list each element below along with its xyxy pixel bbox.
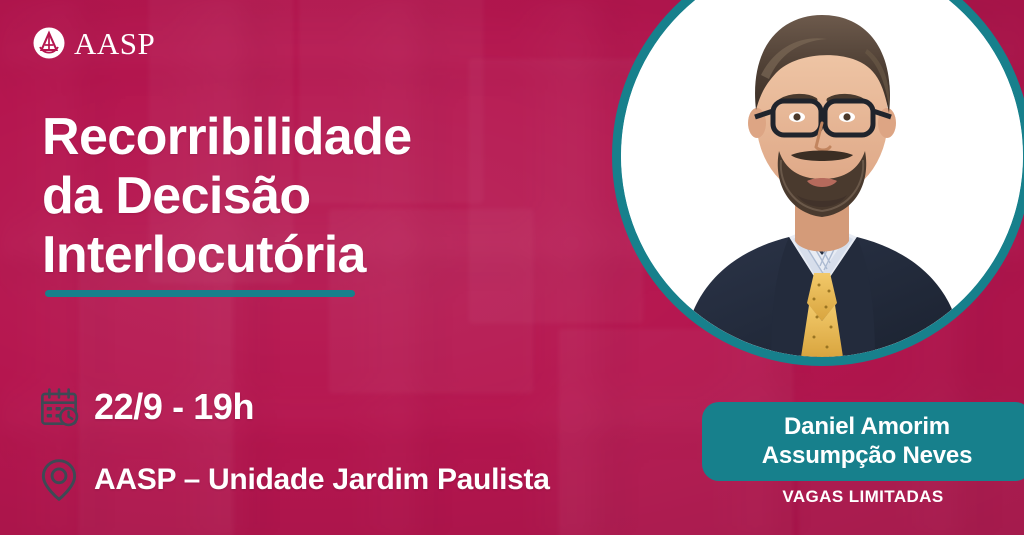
calendar-clock-icon xyxy=(38,386,80,428)
event-location-text: AASP – Unidade Jardim Paulista xyxy=(94,463,550,497)
speaker-photo xyxy=(612,0,1024,366)
aasp-logo-text: AASP xyxy=(74,28,155,59)
event-title-line-1: Recorribilidade xyxy=(42,108,582,167)
event-date-text: 22/9 - 19h xyxy=(94,386,254,428)
event-location-row: AASP – Unidade Jardim Paulista xyxy=(38,457,550,503)
title-underline-rule xyxy=(45,290,355,297)
map-pin-icon xyxy=(38,457,80,503)
event-date-row: 22/9 - 19h xyxy=(38,386,254,428)
event-title-line-2: da Decisão xyxy=(42,167,582,226)
speaker-name-line-2: Assumpção Neves xyxy=(762,442,972,471)
speaker-name-line-1: Daniel Amorim xyxy=(784,413,950,442)
aasp-triangle-emblem-icon xyxy=(33,27,65,59)
limited-seats-badge: VAGAS LIMITADAS xyxy=(702,487,1024,507)
event-title: Recorribilidade da Decisão Interlocutóri… xyxy=(42,108,582,286)
speaker-name-plate: Daniel Amorim Assumpção Neves xyxy=(702,402,1024,481)
portrait-disc xyxy=(621,0,1023,357)
aasp-logo[interactable]: AASP xyxy=(33,27,155,59)
portrait-illustration xyxy=(621,0,1023,357)
event-banner: AASP Recorribilidade da Decisão Interloc… xyxy=(0,0,1024,535)
event-title-line-3: Interlocutória xyxy=(42,226,582,285)
